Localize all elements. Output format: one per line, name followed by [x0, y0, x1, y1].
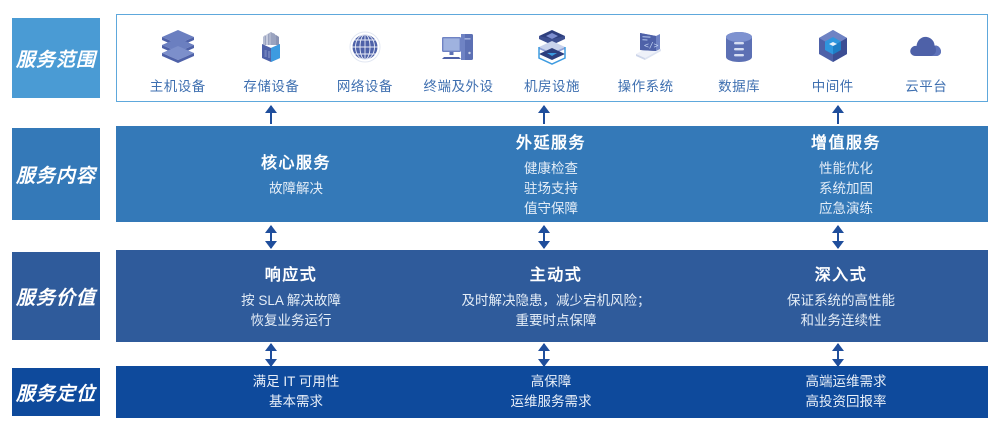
service-positioning-columns: 满足 IT 可用性 基本需求 高保障 运维服务需求 高端运维需求 高投资回报率 — [116, 366, 988, 418]
column-line: 基本需求 — [269, 392, 323, 412]
value-column-proactive[interactable]: 主动式 及时解决隐患，减少宕机风险； 重要时点保障 — [416, 250, 696, 342]
cube-middleware-icon — [811, 23, 855, 69]
positioning-column-high-assurance[interactable]: 高保障 运维服务需求 — [421, 366, 681, 418]
service-framework-diagram: 服务范围 主机设备 — [0, 0, 1000, 424]
service-value-columns: 响应式 按 SLA 解决故障 恢复业务运行 主动式 及时解决隐患，减少宕机风险；… — [116, 250, 988, 342]
column-line: 驻场支持 — [524, 179, 578, 199]
service-scope-items: 主机设备 — [117, 15, 987, 101]
scope-item-network-equipment[interactable]: 网络设备 — [318, 23, 412, 95]
arrow-head-up-icon — [538, 225, 550, 233]
column-title: 响应式 — [265, 261, 318, 285]
arrow-head-up-icon — [265, 105, 277, 113]
column-title: 增值服务 — [811, 129, 881, 153]
scope-item-label: 终端及外设 — [423, 75, 493, 95]
value-column-responsive[interactable]: 响应式 按 SLA 解决故障 恢复业务运行 — [166, 250, 416, 342]
content-column-core-service[interactable]: 核心服务 故障解决 — [176, 126, 416, 222]
column-line: 高端运维需求 — [806, 372, 887, 392]
storage-array-icon — [249, 23, 293, 69]
connector-scope-to-content-col2 — [537, 106, 551, 124]
scope-item-label: 云平台 — [905, 75, 947, 95]
scope-item-database[interactable]: 数据库 — [692, 23, 786, 95]
column-line: 故障解决 — [269, 179, 323, 199]
column-title: 核心服务 — [261, 149, 331, 173]
row-label-text: 服务定位 — [16, 379, 96, 406]
connector-content-to-value-col1 — [264, 226, 278, 248]
service-content-panel: 核心服务 故障解决 外延服务 健康检查 驻场支持 值守保障 增值服务 性能优化 … — [116, 126, 988, 222]
scope-item-label: 主机设备 — [150, 75, 206, 95]
arrow-head-down-icon — [538, 241, 550, 249]
scope-item-terminal-peripherals[interactable]: 终端及外设 — [412, 23, 506, 95]
positioning-column-basic[interactable]: 满足 IT 可用性 基本需求 — [171, 366, 421, 418]
column-line: 运维服务需求 — [511, 392, 592, 412]
row-label-service-scope: 服务范围 — [12, 18, 100, 98]
column-line: 恢复业务运行 — [251, 311, 332, 331]
service-content-columns: 核心服务 故障解决 外延服务 健康检查 驻场支持 值守保障 增值服务 性能优化 … — [116, 126, 988, 222]
column-line: 满足 IT 可用性 — [253, 372, 340, 392]
column-line: 重要时点保障 — [516, 311, 597, 331]
scope-item-label: 网络设备 — [337, 75, 393, 95]
scope-item-host-equipment[interactable]: 主机设备 — [131, 23, 225, 95]
row-label-text: 服务价值 — [16, 283, 96, 310]
arrow-head-up-icon — [538, 343, 550, 351]
scope-item-label: 数据库 — [718, 75, 760, 95]
connector-content-to-value-col3 — [831, 226, 845, 248]
connector-value-to-position-col1 — [264, 344, 278, 366]
column-line: 性能优化 — [819, 159, 873, 179]
globe-network-icon — [343, 23, 387, 69]
scope-item-label: 操作系统 — [618, 75, 674, 95]
service-scope-panel: 主机设备 — [116, 14, 988, 102]
laptop-code-icon: </> — [624, 23, 668, 69]
column-line: 系统加固 — [819, 179, 873, 199]
connector-value-to-position-col2 — [537, 344, 551, 366]
content-column-extended-service[interactable]: 外延服务 健康检查 驻场支持 值守保障 — [421, 126, 681, 222]
svg-text:</>: </> — [644, 41, 659, 50]
arrow-head-up-icon — [832, 105, 844, 113]
service-value-panel: 响应式 按 SLA 解决故障 恢复业务运行 主动式 及时解决隐患，减少宕机风险；… — [116, 250, 988, 342]
value-column-indepth[interactable]: 深入式 保证系统的高性能 和业务连续性 — [711, 250, 971, 342]
cloud-icon — [904, 23, 948, 69]
arrow-head-up-icon — [265, 343, 277, 351]
scope-item-operating-system[interactable]: </> 操作系统 — [599, 23, 693, 95]
scope-item-storage-equipment[interactable]: 存储设备 — [225, 23, 319, 95]
row-label-service-value: 服务价值 — [12, 252, 100, 340]
column-line: 健康检查 — [524, 159, 578, 179]
arrow-head-up-icon — [538, 105, 550, 113]
arrow-head-up-icon — [265, 225, 277, 233]
row-label-text: 服务内容 — [16, 161, 96, 188]
column-line: 和业务连续性 — [801, 311, 882, 331]
arrow-head-down-icon — [832, 241, 844, 249]
connector-value-to-position-col3 — [831, 344, 845, 366]
database-icon — [717, 23, 761, 69]
scope-item-label: 存储设备 — [243, 75, 299, 95]
connector-scope-to-content-col3 — [831, 106, 845, 124]
column-title: 外延服务 — [516, 129, 586, 153]
row-label-service-content: 服务内容 — [12, 128, 100, 220]
column-line: 高投资回报率 — [806, 392, 887, 412]
scope-item-middleware[interactable]: 中间件 — [786, 23, 880, 95]
column-line: 及时解决隐患，减少宕机风险； — [462, 291, 651, 311]
column-title: 主动式 — [530, 261, 583, 285]
column-line: 保证系统的高性能 — [787, 291, 895, 311]
server-stack-icon — [156, 23, 200, 69]
desktop-pc-icon — [436, 23, 480, 69]
data-center-icon — [530, 23, 574, 69]
row-label-service-positioning: 服务定位 — [12, 368, 100, 416]
positioning-column-high-end[interactable]: 高端运维需求 高投资回报率 — [716, 366, 976, 418]
column-line: 应急演练 — [819, 199, 873, 219]
connector-scope-to-content-col1 — [264, 106, 278, 124]
scope-item-datacenter-facility[interactable]: 机房设施 — [505, 23, 599, 95]
scope-item-cloud-platform[interactable]: 云平台 — [880, 23, 974, 95]
arrow-head-up-icon — [832, 225, 844, 233]
column-line: 值守保障 — [524, 199, 578, 219]
scope-item-label: 中间件 — [812, 75, 854, 95]
service-positioning-panel: 满足 IT 可用性 基本需求 高保障 运维服务需求 高端运维需求 高投资回报率 — [116, 366, 988, 418]
row-label-text: 服务范围 — [16, 45, 96, 72]
column-line: 高保障 — [531, 372, 572, 392]
column-title: 深入式 — [815, 261, 868, 285]
content-column-value-added-service[interactable]: 增值服务 性能优化 系统加固 应急演练 — [716, 126, 976, 222]
connector-content-to-value-col2 — [537, 226, 551, 248]
scope-item-label: 机房设施 — [524, 75, 580, 95]
arrow-head-up-icon — [832, 343, 844, 351]
arrow-head-down-icon — [265, 241, 277, 249]
column-line: 按 SLA 解决故障 — [241, 291, 341, 311]
